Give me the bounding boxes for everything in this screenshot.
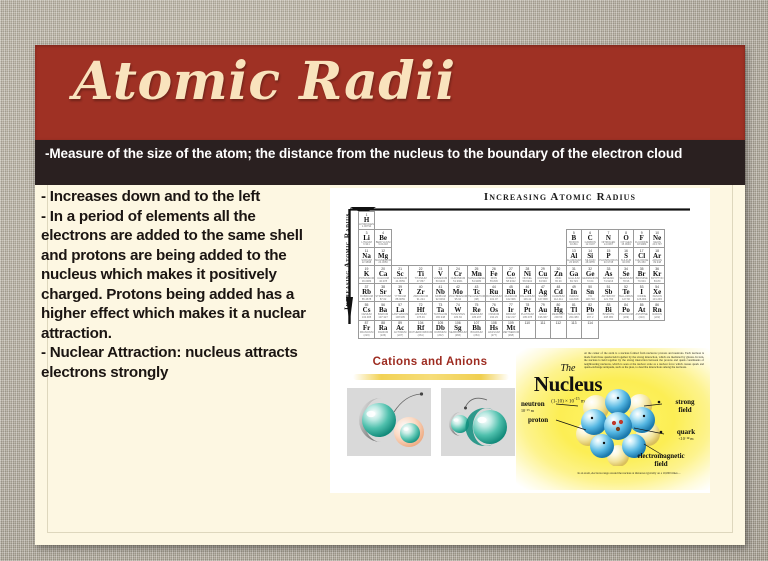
element-cell-Y: 39YYTTRIUM88.9059 xyxy=(392,284,409,302)
element-cell-unnamed: 114 xyxy=(582,320,599,338)
element-cell-Sn: 50SnTIN118.710 xyxy=(582,284,599,302)
element-cell-La: 57LaLANTHANUM138.905 xyxy=(392,302,409,320)
periodic-table-gap xyxy=(502,248,519,266)
element-cell-Os: 76OsOSMIUM190.23 xyxy=(486,302,503,320)
nucleus-description-paragraph: At the center of the atom is a nucleus f… xyxy=(584,352,704,370)
periodic-table-row: 37RbRUBIDIUM85.467838SrSTRONTIUM87.6239Y… xyxy=(359,284,665,302)
element-cell-Sg: 106SgSEABORGIUM(266) xyxy=(448,320,467,338)
periodic-table-gap xyxy=(535,212,551,230)
periodic-table-gap xyxy=(582,212,599,230)
periodic-table-gap xyxy=(486,230,503,248)
periodic-table-gap xyxy=(520,248,536,266)
label-neutron: neutron 10⁻¹⁵ m xyxy=(521,400,545,413)
element-cell-Mn: 25MnMANGANESE54.9380 xyxy=(468,266,486,284)
body-bullet-1: - Increases down and to the left xyxy=(41,187,316,207)
slide-canvas-background: Atomic Radii -Measure of the size of the… xyxy=(0,0,768,561)
element-cell-F: 9FFLUORINE18.9984 xyxy=(634,230,650,248)
element-cell-Mg: 12MgMAGNESIUM24.3050 xyxy=(375,248,392,266)
element-cell-unnamed: 113 xyxy=(566,320,582,338)
element-cell-Na: 11NaSODIUM22.9898 xyxy=(359,248,375,266)
periodic-table-gap xyxy=(502,212,519,230)
body-bullet-2: - In a period of elements all the electr… xyxy=(41,207,316,344)
element-cell-unnamed: 110 xyxy=(520,320,536,338)
element-cell-Rf: 104RfRUTHERFORDIUM(261) xyxy=(409,320,433,338)
increasing-radius-down-arrow-icon xyxy=(346,209,353,324)
element-cell-Pt: 78PtPLATINUM195.078 xyxy=(520,302,536,320)
element-cell-Pd: 46PdPALLADIUM106.42 xyxy=(520,284,536,302)
element-cell-Nb: 41NbNIOBIUM92.9064 xyxy=(433,284,449,302)
body-bullet-3: - Nuclear Attraction: nucleus attracts e… xyxy=(41,343,316,382)
element-cell-Cd: 48CdCADMIUM112.411 xyxy=(551,284,567,302)
element-cell-Cl: 17ClCHLORINE35.453 xyxy=(634,248,650,266)
element-cell-Br: 35BrBROMINE79.904 xyxy=(634,266,650,284)
periodic-table-gap xyxy=(448,212,467,230)
periodic-table-gap xyxy=(486,212,503,230)
periodic-table-gap xyxy=(599,212,618,230)
slide-body-copy: - Increases down and to the left - In a … xyxy=(41,187,316,382)
element-cell-Ga: 31GaGALLIUM69.723 xyxy=(566,266,582,284)
periodic-table-gap xyxy=(535,230,551,248)
element-cell-Fr: 87FrFRANCIUM(223) xyxy=(359,320,375,338)
presentation-slide: Atomic Radii -Measure of the size of the… xyxy=(35,45,745,545)
element-cell-H: 1HHYDROGEN1.00794 xyxy=(359,212,375,230)
element-cell-Ir: 77IrIRIDIUM192.217 xyxy=(502,302,519,320)
element-cell-Cs: 55CsCESIUM132.905 xyxy=(359,302,375,320)
periodic-table-gap xyxy=(448,230,467,248)
cation-diagram-svg xyxy=(347,388,431,456)
periodic-table-gap xyxy=(433,248,449,266)
element-cell-Ne: 10NeNEON20.1797 xyxy=(649,230,665,248)
element-cell-Hs: 108HsHASSIUM(277) xyxy=(486,320,503,338)
page-title: Atomic Radii xyxy=(73,51,456,112)
periodic-table-row: 11NaSODIUM22.989812MgMAGNESIUM24.305013A… xyxy=(359,248,665,266)
periodic-table-gap xyxy=(392,230,409,248)
element-cell-Al: 13AlALUMINUM26.9815 xyxy=(566,248,582,266)
periodic-table-gap xyxy=(649,212,665,230)
element-cell-As: 33AsARSENIC74.9216 xyxy=(599,266,618,284)
periodic-table-top-heading: Increasing Atomic Radius xyxy=(410,191,710,203)
element-cell-Te: 52TeTELLURIUM127.60 xyxy=(618,284,634,302)
element-cell-Ta: 73TaTANTALUM180.948 xyxy=(433,302,449,320)
periodic-table-gap xyxy=(375,212,392,230)
periodic-table-row: 1HHYDROGEN1.00794 xyxy=(359,212,665,230)
element-cell-At: 85AtASTATINE(210) xyxy=(634,302,650,320)
element-cell-N: 7NNITROGEN14.0067 xyxy=(599,230,618,248)
element-cell-Se: 34SeSELENIUM78.96 xyxy=(618,266,634,284)
label-electromagnetic-field: electromagnetic field xyxy=(616,452,706,468)
periodic-table-gap xyxy=(566,212,582,230)
cations-anions-figure: Cations and Anions xyxy=(335,350,525,490)
element-cell-Rh: 45RhRHODIUM102.906 xyxy=(502,284,519,302)
element-cell-Co: 27CoCOBALT58.9332 xyxy=(502,266,519,284)
element-cell-Pb: 82PbLEAD207.2 xyxy=(582,302,599,320)
periodic-table-gap xyxy=(468,212,486,230)
periodic-table-grid: 1HHYDROGEN1.007943LiLITHIUM6.9414BeBERYL… xyxy=(358,211,665,339)
element-cell-K: 19KPOTASSIUM39.0983 xyxy=(359,266,375,284)
element-cell-P: 15PPHOSPHORUS30.9738 xyxy=(599,248,618,266)
periodic-table-gap xyxy=(551,248,567,266)
element-cell-S: 16SSULFUR32.065 xyxy=(618,248,634,266)
periodic-table-gap xyxy=(520,212,536,230)
element-cell-Ru: 44RuRUTHENIUM101.07 xyxy=(486,284,503,302)
periodic-table-gap xyxy=(433,212,449,230)
element-cell-Rn: 86RnRADON(222) xyxy=(649,302,665,320)
periodic-table-gap xyxy=(634,212,650,230)
periodic-table-gap xyxy=(409,230,433,248)
element-cell-Sc: 21ScSCANDIUM44.9559 xyxy=(392,266,409,284)
element-cell-Zn: 30ZnZINC65.39 xyxy=(551,266,567,284)
periodic-table-gap xyxy=(551,212,567,230)
slide-subtitle-text: -Measure of the size of the atom; the di… xyxy=(45,145,735,162)
element-cell-Ba: 56BaBARIUM137.327 xyxy=(375,302,392,320)
element-cell-Po: 84PoPOLONIUM(209) xyxy=(618,302,634,320)
slide-subtitle-band: -Measure of the size of the atom; the di… xyxy=(35,140,745,185)
element-cell-V: 23VVANADIUM50.9415 xyxy=(433,266,449,284)
element-cell-Li: 3LiLITHIUM6.941 xyxy=(359,230,375,248)
element-cell-Be: 4BeBERYLLIUM9.01218 xyxy=(375,230,392,248)
element-cell-Ca: 20CaCALCIUM40.078 xyxy=(375,266,392,284)
periodic-table-gap xyxy=(520,230,536,248)
element-cell-Mt: 109MtMEITNERIUM(268) xyxy=(502,320,519,338)
periodic-table-row: 19KPOTASSIUM39.098320CaCALCIUM40.07821Sc… xyxy=(359,266,665,284)
periodic-table-gap xyxy=(634,320,650,338)
element-cell-B: 5BBORON10.811 xyxy=(566,230,582,248)
periodic-table-gap xyxy=(618,320,634,338)
periodic-table-row: 55CsCESIUM132.90556BaBARIUM137.32757LaLA… xyxy=(359,302,665,320)
nucleus-footnote: In an atom, electrons range around the n… xyxy=(574,472,684,475)
element-cell-Ra: 88RaRADIUM(226) xyxy=(375,320,392,338)
element-cell-Bh: 107BhBOHRIUM(264) xyxy=(468,320,486,338)
element-cell-Cr: 24CrCHROMIUM51.9961 xyxy=(448,266,467,284)
element-cell-Bi: 83BiBISMUTH208.980 xyxy=(599,302,618,320)
element-cell-Ni: 28NiNICKEL58.6934 xyxy=(520,266,536,284)
element-cell-Hg: 80HgMERCURY200.59 xyxy=(551,302,567,320)
element-cell-Ac: 89AcACTINIUM(227) xyxy=(392,320,409,338)
element-cell-Tc: 43TcTECHNETIUM(98) xyxy=(468,284,486,302)
periodic-table-row: 87FrFRANCIUM(223)88RaRADIUM(226)89AcACTI… xyxy=(359,320,665,338)
label-strong-field: strong field xyxy=(664,398,706,414)
periodic-table-gap xyxy=(618,212,634,230)
element-cell-W: 74WTUNGSTEN183.84 xyxy=(448,302,467,320)
periodic-table-gap xyxy=(448,248,467,266)
slide-title-band: Atomic Radii xyxy=(35,45,745,140)
periodic-table-gap xyxy=(649,320,665,338)
periodic-table-figure: Increasing Atomic Radius Increasing Atom… xyxy=(330,189,710,347)
element-cell-Ag: 47AgSILVER107.868 xyxy=(535,284,551,302)
periodic-table-gap xyxy=(551,230,567,248)
element-cell-Zr: 40ZrZIRCONIUM91.224 xyxy=(409,284,433,302)
anion-diagram-svg xyxy=(441,388,515,456)
label-quark: quark <10⁻¹⁸ m xyxy=(666,428,706,441)
nucleus-figure: The Nucleus (1-10) × 10-15 m At the cent… xyxy=(516,348,710,490)
element-cell-Rb: 37RbRUBIDIUM85.4678 xyxy=(359,284,375,302)
element-cell-Fe: 26FeIRON55.845 xyxy=(486,266,503,284)
cations-anions-title: Cations and Anions xyxy=(335,356,525,368)
element-cell-Tl: 81TlTHALLIUM204.383 xyxy=(566,302,582,320)
periodic-table-gap xyxy=(535,248,551,266)
element-cell-Xe: 54XeXENON131.293 xyxy=(649,284,665,302)
element-cell-Sr: 38SrSTRONTIUM87.62 xyxy=(375,284,392,302)
element-cell-Ge: 32GeGERMANIUM72.64 xyxy=(582,266,599,284)
element-cell-unnamed: 111 xyxy=(535,320,551,338)
periodic-table-gap xyxy=(433,230,449,248)
element-cell-Cu: 29CuCOPPER63.546 xyxy=(535,266,551,284)
element-cell-Mo: 42MoMOLYBDENUM95.94 xyxy=(448,284,467,302)
periodic-table-gap xyxy=(468,248,486,266)
element-cell-Kr: 36KrKRYPTON83.80 xyxy=(649,266,665,284)
periodic-table-gap xyxy=(392,212,409,230)
anion-formation-illustration xyxy=(441,388,515,456)
periodic-table-gap xyxy=(409,212,433,230)
element-cell-O: 8OOXYGEN15.9994 xyxy=(618,230,634,248)
periodic-table-gap xyxy=(468,230,486,248)
periodic-table-gap xyxy=(392,248,409,266)
periodic-table-gap xyxy=(486,248,503,266)
element-cell-Db: 105DbDUBNIUM(262) xyxy=(433,320,449,338)
element-cell-C: 6CCARBON12.0107 xyxy=(582,230,599,248)
element-cell-I: 53IIODINE126.904 xyxy=(634,284,650,302)
element-cell-Re: 75ReRHENIUM186.207 xyxy=(468,302,486,320)
cation-formation-illustration xyxy=(347,388,431,456)
periodic-table-gap xyxy=(502,230,519,248)
element-cell-Si: 14SiSILICON28.0855 xyxy=(582,248,599,266)
periodic-table-row: 3LiLITHIUM6.9414BeBERYLLIUM9.012185BBORO… xyxy=(359,230,665,248)
cations-anions-underline xyxy=(353,374,509,380)
element-cell-Hf: 72HfHAFNIUM178.49 xyxy=(409,302,433,320)
element-cell-unnamed: 112 xyxy=(551,320,567,338)
element-cell-Ar: 18ArARGON39.948 xyxy=(649,248,665,266)
label-proton: proton xyxy=(528,416,548,424)
media-panel: Increasing Atomic Radius Increasing Atom… xyxy=(330,188,710,493)
element-cell-Sb: 51SbANTIMONY121.760 xyxy=(599,284,618,302)
element-cell-In: 49InINDIUM114.818 xyxy=(566,284,582,302)
periodic-table-gap xyxy=(409,248,433,266)
element-cell-Au: 79AuGOLD196.967 xyxy=(535,302,551,320)
element-cell-Ti: 22TiTITANIUM47.867 xyxy=(409,266,433,284)
periodic-table-gap xyxy=(599,320,618,338)
